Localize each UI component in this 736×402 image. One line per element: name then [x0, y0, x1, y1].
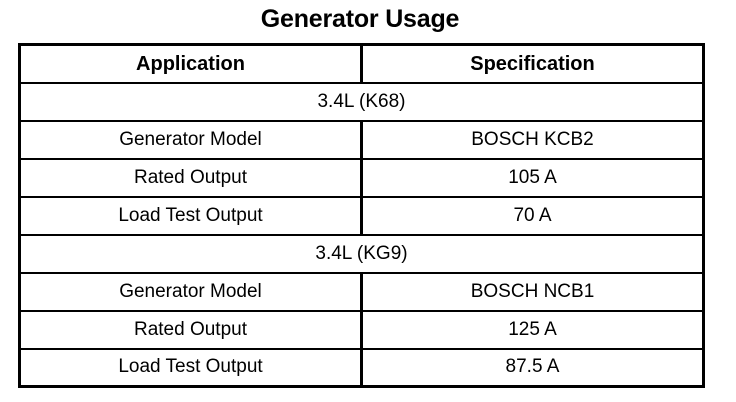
cell-application: Rated Output — [20, 159, 362, 197]
cell-application: Rated Output — [20, 311, 362, 349]
cell-specification: BOSCH KCB2 — [362, 121, 704, 159]
page-title: Generator Usage — [18, 2, 702, 36]
section-header-row: 3.4L (KG9) — [20, 235, 704, 273]
cell-specification: 87.5 A — [362, 349, 704, 387]
cell-specification: BOSCH NCB1 — [362, 273, 704, 311]
cell-specification: 70 A — [362, 197, 704, 235]
section-header-row: 3.4L (K68) — [20, 83, 704, 121]
table-header-row: Application Specification — [20, 45, 704, 83]
generator-usage-table: Application Specification 3.4L (K68) Gen… — [18, 43, 705, 388]
cell-specification: 125 A — [362, 311, 704, 349]
cell-specification: 105 A — [362, 159, 704, 197]
column-header-specification: Specification — [362, 45, 704, 83]
cell-application: Generator Model — [20, 273, 362, 311]
table-row: Load Test Output 70 A — [20, 197, 704, 235]
table-row: Generator Model BOSCH NCB1 — [20, 273, 704, 311]
section-label-k68: 3.4L (K68) — [20, 83, 704, 121]
column-header-application: Application — [20, 45, 362, 83]
document-page: Generator Usage Application Specificatio… — [0, 0, 736, 402]
section-label-kg9: 3.4L (KG9) — [20, 235, 704, 273]
table-row: Rated Output 105 A — [20, 159, 704, 197]
table-row: Generator Model BOSCH KCB2 — [20, 121, 704, 159]
table-row: Rated Output 125 A — [20, 311, 704, 349]
cell-application: Load Test Output — [20, 349, 362, 387]
table-row: Load Test Output 87.5 A — [20, 349, 704, 387]
cell-application: Generator Model — [20, 121, 362, 159]
cell-application: Load Test Output — [20, 197, 362, 235]
